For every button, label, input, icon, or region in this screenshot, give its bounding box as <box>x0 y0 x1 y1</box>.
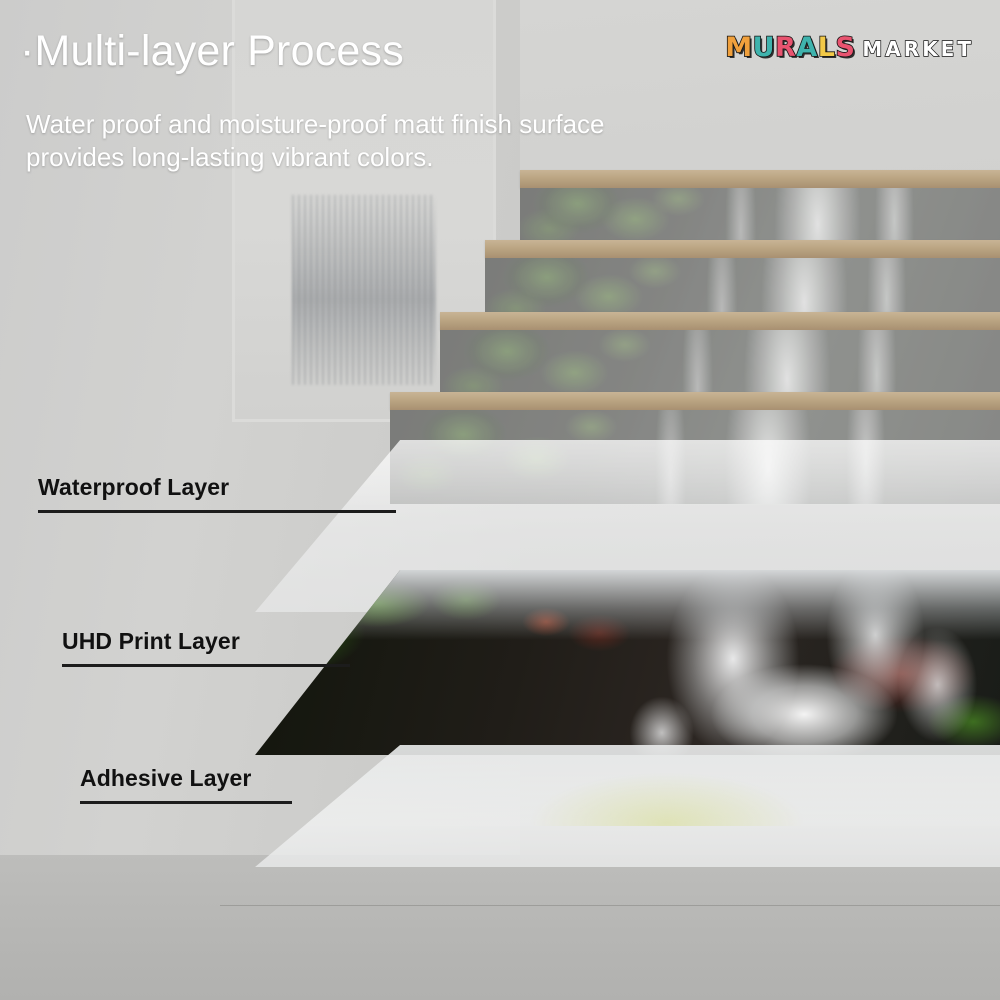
layer-label-text: Adhesive Layer <box>80 765 292 792</box>
floor-seam <box>220 905 1000 906</box>
promo-graphic: ·Multi-layer Process Water proof and moi… <box>0 0 1000 1000</box>
layer-label-rule <box>80 801 292 804</box>
page-subtitle: Water proof and moisture-proof matt fini… <box>26 108 605 175</box>
logo-letter-s: S <box>835 32 855 63</box>
page-title: ·Multi-layer Process <box>20 27 404 76</box>
layer-label-waterproof: Waterproof Layer <box>38 474 396 513</box>
brand-logo[interactable]: M U R A L S MARKET <box>725 32 974 63</box>
stair-riser-mural <box>520 188 1000 248</box>
logo-murals-wordmark: M U R A L S <box>725 32 855 63</box>
layer-label-text: UHD Print Layer <box>62 628 350 655</box>
layer-label-rule <box>38 510 396 513</box>
logo-market-wordmark: MARKET <box>862 37 974 61</box>
floor <box>0 855 1000 1000</box>
layer-label-uhd-print: UHD Print Layer <box>62 628 350 667</box>
layer-label-adhesive: Adhesive Layer <box>80 765 292 804</box>
stair-tread <box>390 392 1000 410</box>
logo-letter-a: A <box>796 32 817 63</box>
subtitle-line-2: provides long-lasting vibrant colors. <box>26 141 605 174</box>
stair-tread <box>440 312 1000 330</box>
stair-tread <box>485 240 1000 258</box>
stair-step <box>520 170 1000 248</box>
layer-label-text: Waterproof Layer <box>38 474 396 501</box>
wall-picture-art <box>292 195 436 384</box>
subtitle-line-1: Water proof and moisture-proof matt fini… <box>26 108 605 141</box>
adhesive-tint <box>306 745 1000 826</box>
logo-letter-r: R <box>775 32 796 63</box>
logo-letter-u: U <box>753 32 775 63</box>
layer-label-rule <box>62 664 350 667</box>
logo-letter-l: L <box>818 32 836 63</box>
logo-letter-m1: M <box>725 32 752 63</box>
